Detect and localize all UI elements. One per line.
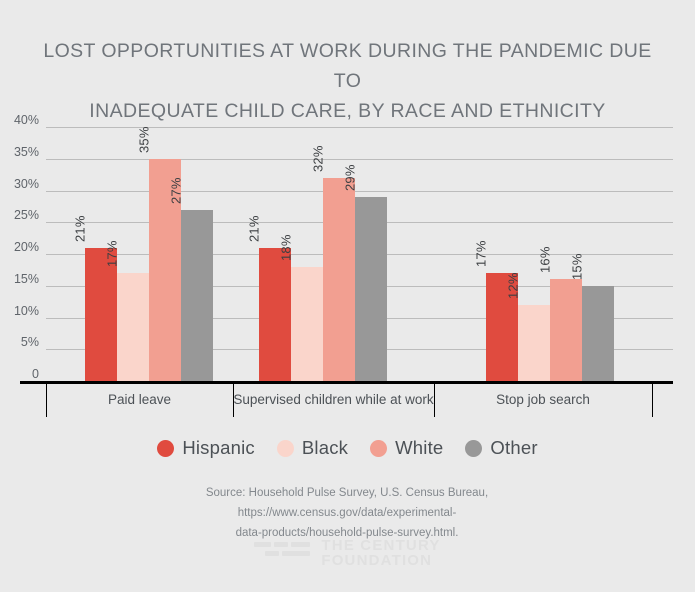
bar[interactable]: 18% <box>291 267 323 381</box>
logo-bars-icon <box>254 538 310 568</box>
bar[interactable]: 16% <box>550 279 582 381</box>
legend-item-white[interactable]: White <box>370 437 443 459</box>
y-axis-tick-label: 0 <box>32 367 39 381</box>
legend-item-hispanic[interactable]: Hispanic <box>157 437 255 459</box>
bar[interactable]: 15% <box>582 286 614 381</box>
bar-group: 17%12%16%15% <box>486 127 614 381</box>
y-axis-tick-label: 20% <box>14 240 39 254</box>
source-note: Source: Household Pulse Survey, U.S. Cen… <box>97 483 597 543</box>
x-axis-separator <box>652 384 653 417</box>
x-axis-category-label: Paid leave <box>46 392 233 407</box>
bar[interactable]: 32% <box>323 178 355 381</box>
y-axis-tick-label: 5% <box>21 335 39 349</box>
bar-value-label: 16% <box>538 247 553 274</box>
y-axis: 40%35%30%25%20%15%10%5%0 <box>0 110 44 390</box>
bar-group: 21%17%35%27% <box>85 127 213 381</box>
bar[interactable]: 12% <box>518 305 550 381</box>
page-title: Lost Opportunities at Work During the Pa… <box>40 36 655 126</box>
x-axis-category-label: Stop job search <box>434 392 652 407</box>
legend-swatch-icon <box>157 440 174 457</box>
y-axis-tick-label: 10% <box>14 304 39 318</box>
logo-text: The Century Foundation <box>321 538 440 568</box>
bar-group: 21%18%32%29% <box>259 127 387 381</box>
bar-value-label: 29% <box>343 164 358 191</box>
bar-value-label: 21% <box>73 215 88 242</box>
bar[interactable]: 29% <box>355 197 387 381</box>
y-axis-tick-label: 40% <box>14 113 39 127</box>
bar[interactable]: 17% <box>117 273 149 381</box>
bar[interactable]: 27% <box>181 210 213 381</box>
legend-item-label: Other <box>490 437 537 459</box>
y-axis-tick-label: 15% <box>14 272 39 286</box>
legend-item-other[interactable]: Other <box>465 437 537 459</box>
y-axis-tick-label: 35% <box>14 145 39 159</box>
legend-swatch-icon <box>465 440 482 457</box>
legend-swatch-icon <box>370 440 387 457</box>
legend-item-black[interactable]: Black <box>277 437 348 459</box>
legend-item-label: White <box>395 437 443 459</box>
y-axis-tick-label: 25% <box>14 208 39 222</box>
the-century-foundation-logo: The Century Foundation <box>0 538 695 568</box>
bar-value-label: 27% <box>169 177 184 204</box>
x-axis-category-labels: Paid leaveSupervised children while at w… <box>20 384 673 418</box>
bar[interactable]: 21% <box>259 248 291 381</box>
bars-layer: 21%17%35%27%21%18%32%29%17%12%16%15% <box>46 127 673 381</box>
chart-legend: HispanicBlackWhiteOther <box>0 437 695 459</box>
bar-value-label: 17% <box>474 240 489 267</box>
legend-item-label: Black <box>302 437 348 459</box>
bar-value-label: 21% <box>247 215 262 242</box>
bar-value-label: 15% <box>570 253 585 280</box>
bar-value-label: 32% <box>311 145 326 172</box>
bar-value-label: 18% <box>279 234 294 261</box>
bar[interactable]: 21% <box>85 248 117 381</box>
y-axis-tick-label: 30% <box>14 177 39 191</box>
bar-value-label: 12% <box>506 272 521 299</box>
x-axis-category-label: Supervised children while at work <box>233 392 434 407</box>
bar-value-label: 17% <box>105 240 120 267</box>
legend-item-label: Hispanic <box>182 437 255 459</box>
bar-value-label: 35% <box>137 126 152 153</box>
legend-swatch-icon <box>277 440 294 457</box>
